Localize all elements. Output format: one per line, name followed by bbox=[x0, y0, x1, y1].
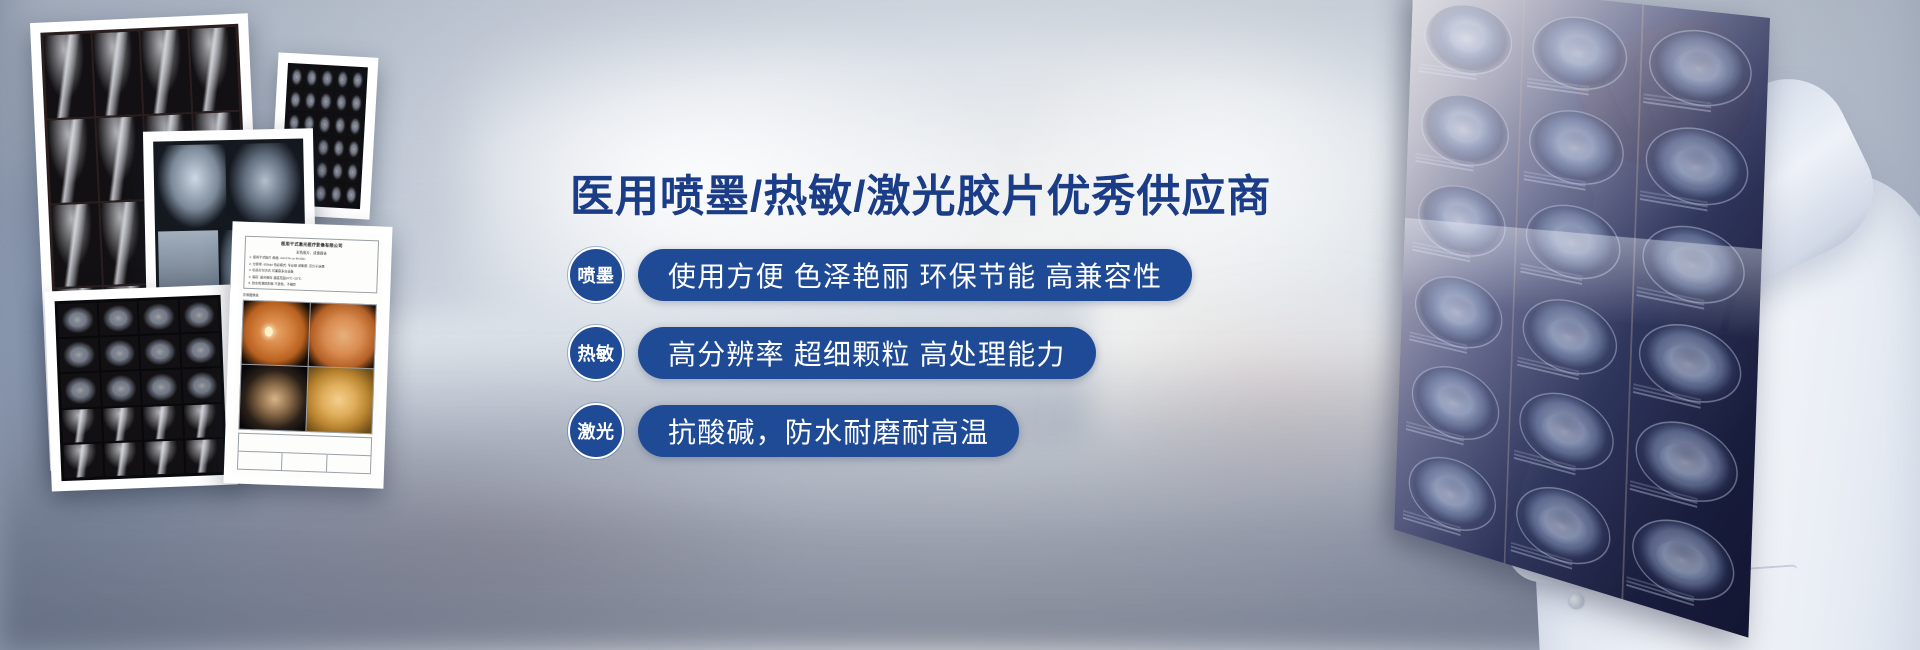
scan-cell bbox=[315, 160, 329, 182]
scan-cell bbox=[100, 336, 140, 371]
xray-chest-ap bbox=[228, 142, 302, 228]
scan-cell bbox=[1519, 94, 1635, 202]
report-footer bbox=[237, 432, 372, 474]
report-image-grid bbox=[238, 300, 376, 434]
scan-cell bbox=[1635, 111, 1760, 225]
scan-cell bbox=[179, 298, 219, 333]
scan-cell bbox=[334, 92, 348, 114]
scan-cell bbox=[329, 183, 343, 205]
feature-pill-thermal: 高分辨率 超细颗粒 高处理能力 bbox=[638, 327, 1096, 379]
report-footer-cell bbox=[327, 455, 371, 474]
badge-inkjet: 喷墨 bbox=[568, 247, 624, 303]
scan-cell bbox=[344, 184, 358, 206]
scan-cell bbox=[1411, 79, 1518, 183]
feature-row-inkjet: 喷墨 使用方便 色泽艳丽 环保节能 高兼容性 bbox=[568, 247, 1268, 303]
held-mri-brain-film bbox=[1394, 0, 1770, 638]
scan-cell bbox=[182, 368, 222, 403]
scan-cell bbox=[305, 67, 319, 89]
scan-cell bbox=[335, 69, 349, 91]
scan-cell bbox=[1415, 0, 1522, 90]
held-scan-grid bbox=[1394, 0, 1770, 638]
hero-content: 医用喷墨/热敏/激光胶片优秀供应商 喷墨 使用方便 色泽艳丽 环保节能 高兼容性… bbox=[568, 172, 1268, 481]
scan-cell bbox=[102, 407, 142, 442]
ultrasound-photo-left bbox=[239, 365, 307, 431]
xray-skull-lateral bbox=[156, 144, 227, 230]
scan-cell bbox=[140, 335, 180, 370]
scan-cell bbox=[304, 90, 318, 112]
feature-pill-laser: 抗酸碱，防水耐磨耐高温 bbox=[638, 405, 1019, 457]
scan-cell bbox=[348, 115, 362, 137]
feature-pill-inkjet: 使用方便 色泽艳丽 环保节能 高兼容性 bbox=[638, 249, 1192, 301]
scan-cell bbox=[51, 203, 101, 288]
scan-cell bbox=[290, 66, 304, 88]
medical-film-hero-banner: 医用干式激光医疗影像有限公司 彩色胶片，成像报告 1. 使用干式胶片 规格: 1… bbox=[0, 0, 1920, 650]
coat-button bbox=[1569, 593, 1584, 608]
scan-cell bbox=[100, 201, 150, 286]
scan-cell bbox=[60, 373, 100, 408]
report-header: 医用干式激光医疗影像有限公司 彩色胶片，成像报告 1. 使用干式胶片 规格: 1… bbox=[243, 236, 379, 294]
scan-cell bbox=[320, 68, 334, 90]
film-plate bbox=[55, 295, 228, 481]
scan-cell bbox=[349, 92, 363, 114]
ultrasound-photo-right bbox=[306, 367, 374, 433]
scan-cell bbox=[104, 442, 144, 477]
fundus-photo-left bbox=[242, 301, 310, 367]
scan-cell bbox=[189, 27, 239, 112]
feature-row-laser: 激光 抗酸碱，防水耐磨耐高温 bbox=[568, 403, 1268, 459]
scan-cell bbox=[92, 31, 142, 116]
scan-cell bbox=[333, 115, 347, 137]
page-title: 医用喷墨/热敏/激光胶片优秀供应商 bbox=[570, 172, 1268, 221]
scan-cell bbox=[345, 161, 359, 183]
scan-cell bbox=[139, 300, 179, 335]
scan-cell bbox=[47, 118, 97, 203]
medical-film-collage: 医用干式激光医疗影像有限公司 彩色胶片，成像报告 1. 使用干式胶片 规格: 1… bbox=[0, 0, 520, 650]
badge-laser: 激光 bbox=[568, 403, 624, 459]
scan-cell bbox=[185, 439, 225, 474]
scan-cell bbox=[1522, 2, 1638, 107]
scan-cell bbox=[347, 138, 361, 160]
scan-cell bbox=[59, 338, 99, 373]
scan-cell bbox=[350, 69, 364, 91]
report-footer-row bbox=[238, 451, 371, 473]
report-footer-cell bbox=[282, 453, 327, 472]
scan-cell bbox=[101, 371, 141, 406]
scan-cell bbox=[144, 440, 184, 475]
scan-cell bbox=[141, 370, 181, 405]
report-footer-cell bbox=[238, 451, 283, 470]
scan-cell bbox=[1638, 14, 1764, 124]
scan-cell bbox=[1516, 187, 1632, 299]
scan-cell bbox=[288, 89, 302, 111]
scan-cell bbox=[63, 443, 103, 478]
brain-spine-mri-film bbox=[44, 285, 238, 492]
scan-cell bbox=[183, 404, 223, 439]
scan-cell bbox=[1408, 168, 1515, 275]
scan-cell bbox=[62, 408, 102, 443]
scan-cell bbox=[330, 160, 344, 182]
scan-grid bbox=[55, 295, 228, 481]
scan-cell bbox=[44, 33, 94, 118]
scan-cell bbox=[180, 333, 220, 368]
scan-cell bbox=[316, 137, 330, 159]
badge-thermal: 热敏 bbox=[568, 325, 624, 381]
scan-cell bbox=[140, 29, 190, 114]
scan-cell bbox=[314, 183, 328, 205]
feature-row-thermal: 热敏 高分辨率 超细颗粒 高处理能力 bbox=[568, 325, 1268, 381]
scan-cell bbox=[143, 405, 183, 440]
report-sheet: 医用干式激光医疗影像有限公司 彩色胶片，成像报告 1. 使用干式胶片 规格: 1… bbox=[232, 230, 384, 481]
scan-cell bbox=[98, 301, 138, 336]
scan-cell bbox=[96, 116, 146, 201]
scan-cell bbox=[331, 137, 345, 159]
scan-cell bbox=[58, 303, 98, 338]
scan-cell bbox=[319, 91, 333, 113]
fundus-photo-right bbox=[308, 303, 376, 369]
scan-cell bbox=[317, 114, 331, 136]
report-sheet-film: 医用干式激光医疗影像有限公司 彩色胶片，成像报告 1. 使用干式胶片 规格: 1… bbox=[223, 221, 392, 488]
